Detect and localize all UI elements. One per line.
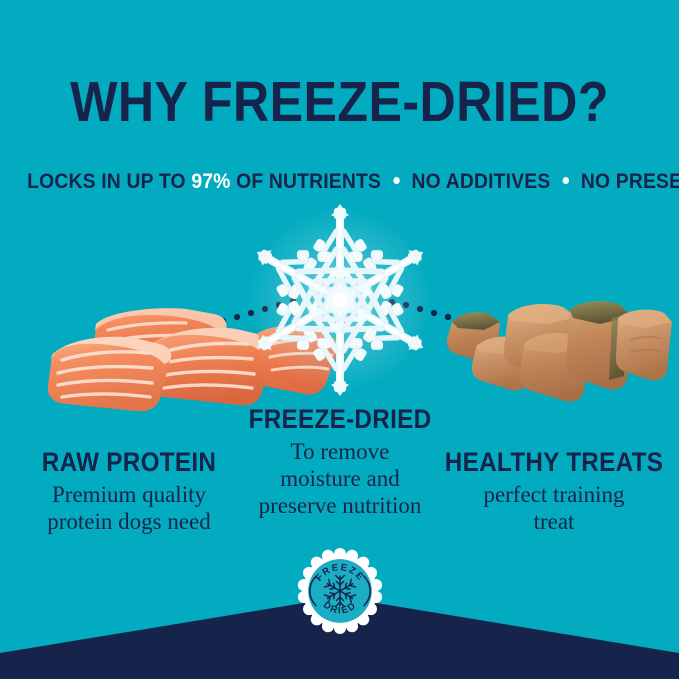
feature-body-line: treat [432,508,676,535]
feature-body-line: moisture and [224,465,456,492]
feature-body-line: perfect training [432,481,676,508]
bullet-separator-icon [562,177,568,184]
claim-percent: 97% [191,170,230,193]
feature-body-line: To remove [224,438,456,465]
freeze-dried-badge: FREEZE DRIED [297,548,383,634]
feature-column-raw-protein: RAW PROTEIN Premium quality protein dogs… [6,447,252,535]
snowflake-illustration [238,204,442,396]
dotted-connector-left [192,298,296,330]
subtitle-claims: LOCKS IN UP TO 97% OF NUTRIENTS NO ADDIT… [27,170,652,194]
claim-no-preservatives: NO PRESERVATIVES [581,170,679,193]
feature-title-healthy-treats: HEALTHY TREATS [444,447,664,477]
feature-title-freeze-dried: FREEZE-DRIED [236,404,445,434]
bullet-separator-icon [393,177,399,184]
feature-body-healthy-treats: perfect training treat [432,481,676,535]
treat-cubes-illustration [447,301,672,401]
raw-salmon-illustration [48,308,338,411]
feature-body-raw-protein: Premium quality protein dogs need [6,481,252,535]
feature-title-raw-protein: RAW PROTEIN [18,447,239,477]
claim-nutrients-suffix: OF NUTRIENTS [236,170,381,193]
infographic-poster: WHY FREEZE-DRIED? LOCKS IN UP TO 97% OF … [0,0,679,679]
feature-body-freeze-dried: To remove moisture and preserve nutritio… [224,438,456,519]
feature-column-freeze-dried: FREEZE-DRIED To remove moisture and pres… [224,404,456,519]
claim-no-additives: NO ADDITIVES [412,170,551,193]
dotted-connector-right [389,299,479,328]
feature-body-line: protein dogs need [6,508,252,535]
page-title: WHY FREEZE-DRIED? [41,72,639,132]
feature-column-healthy-treats: HEALTHY TREATS perfect training treat [432,447,676,535]
feature-body-line: Premium quality [6,481,252,508]
claim-nutrients-prefix: LOCKS IN UP TO [27,170,186,193]
feature-body-line: preserve nutrition [224,492,456,519]
